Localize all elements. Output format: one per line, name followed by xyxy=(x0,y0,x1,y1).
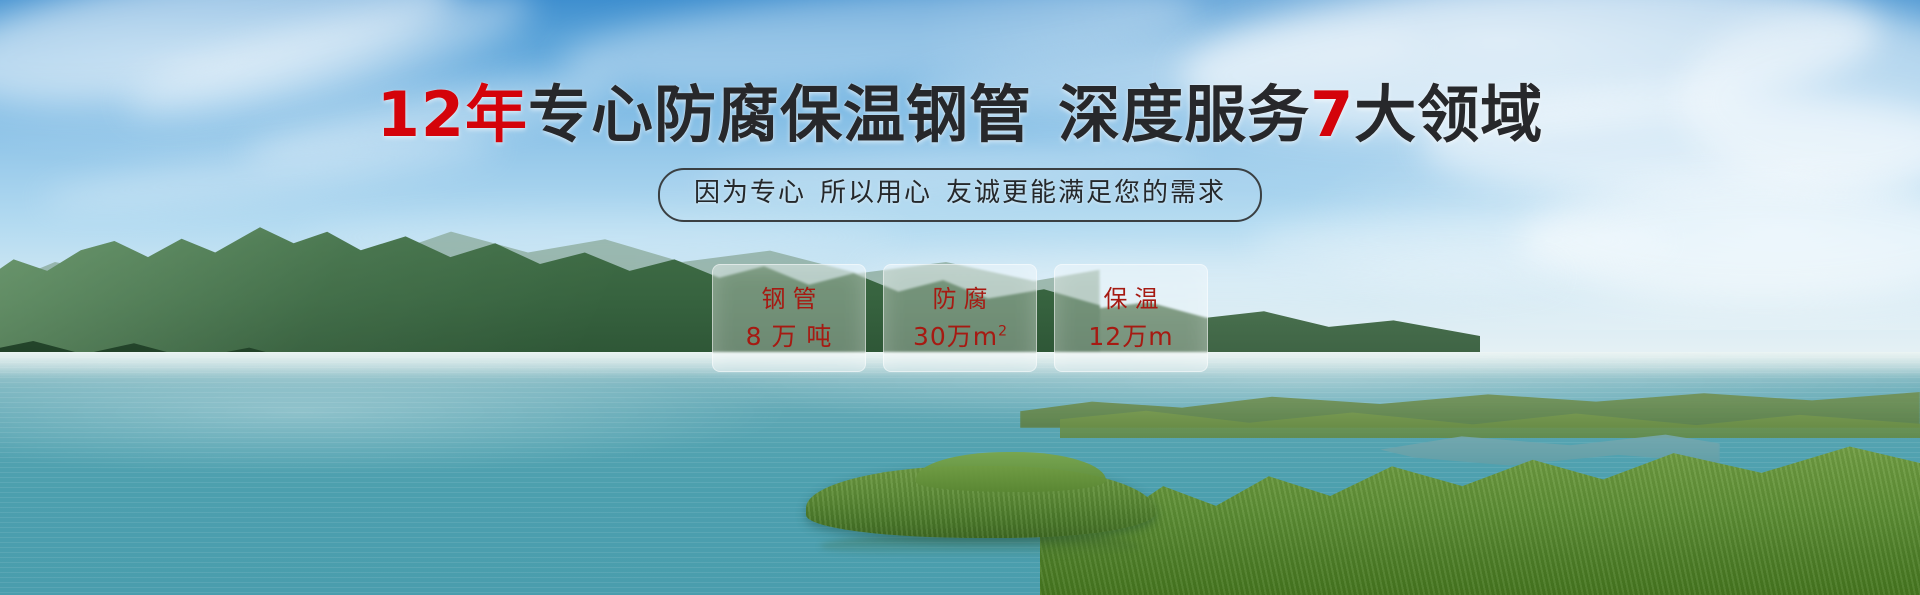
stat-card-value-text: 8 万 吨 xyxy=(746,322,833,351)
stat-card-value: 30万m2 xyxy=(913,324,1007,349)
subtitle-part-3: 友诚更能满足您的需求 xyxy=(946,178,1226,208)
stat-card-label: 防腐 xyxy=(926,287,995,311)
stat-card-value: 8 万 吨 xyxy=(746,324,833,349)
subtitle-part-1: 因为专心 xyxy=(694,178,806,208)
stat-card-steel-pipe: 钢管 8 万 吨 xyxy=(712,264,866,372)
subtitle-part-2: 所以用心 xyxy=(820,178,932,208)
headline-seven: 7 xyxy=(1310,78,1354,151)
stat-card-value-text: 30万m xyxy=(913,322,998,351)
headline-fields-text: 大领域 xyxy=(1354,78,1543,151)
stat-card-list: 钢管 8 万 吨 防腐 30万m2 保温 12万m xyxy=(712,264,1208,372)
stat-card-insulation: 保温 12万m xyxy=(1054,264,1208,372)
headline-service-text: 深度服务 xyxy=(1058,78,1310,151)
headline-main-text: 专心防腐保温钢管 xyxy=(528,78,1032,151)
subtitle-pill: 因为专心所以用心友诚更能满足您的需求 xyxy=(658,168,1262,222)
hero-banner: 12年专心防腐保温钢管深度服务7大领域 因为专心所以用心友诚更能满足您的需求 钢… xyxy=(0,0,1920,595)
stat-card-anticorrosion: 防腐 30万m2 xyxy=(883,264,1037,372)
stat-card-value-text: 12万m xyxy=(1088,322,1173,351)
stat-card-value-sup: 2 xyxy=(998,324,1007,340)
banner-copy-layer: 12年专心防腐保温钢管深度服务7大领域 因为专心所以用心友诚更能满足您的需求 钢… xyxy=(0,0,1920,595)
stat-card-value: 12万m xyxy=(1088,324,1173,349)
headline: 12年专心防腐保温钢管深度服务7大领域 xyxy=(0,84,1920,146)
headline-years-unit: 年 xyxy=(465,78,528,151)
stat-card-label: 保温 xyxy=(1097,287,1166,311)
headline-years-number: 12 xyxy=(377,78,465,151)
stat-card-label: 钢管 xyxy=(755,287,824,311)
